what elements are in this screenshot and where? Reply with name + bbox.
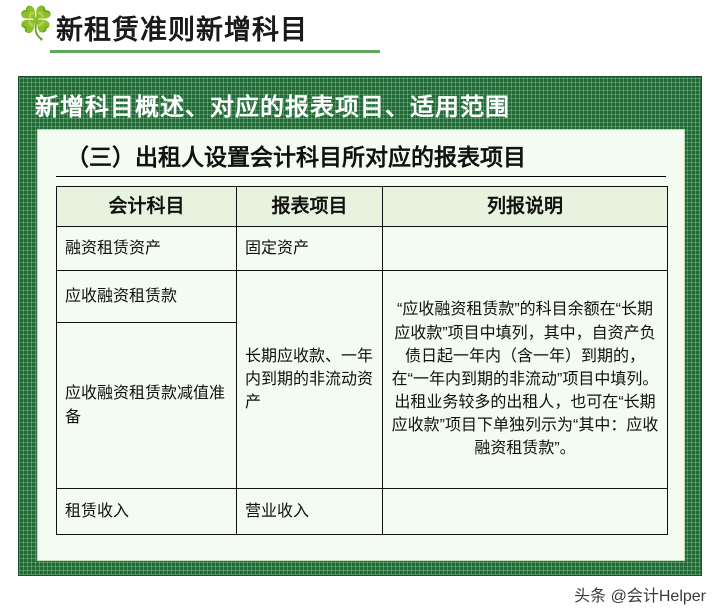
cell-subject: 应收融资租赁款减值准备: [57, 323, 237, 489]
cell-note-merged: “应收融资租赁款”的科目余额在“长期应收款”项目中填列，其中，自资产负债日起一年…: [383, 271, 668, 489]
column-header-report-item: 报表项目: [237, 187, 383, 227]
cell-subject: 应收融资租赁款: [57, 271, 237, 323]
table-row: 应收融资租赁款 长期应收款、一年内到期的非流动资产 “应收融资租赁款”的科目余额…: [57, 271, 668, 323]
page-footer: 头条 @会计Helper: [0, 576, 720, 611]
table-row: 租赁收入 营业收入: [57, 489, 668, 535]
card-heading-divider: [56, 176, 666, 177]
watermark-text: 头条 @会计Helper: [574, 582, 706, 606]
content-panel: 新增科目概述、对应的报表项目、适用范围 （三）出租人设置会计科目所对应的报表项目…: [18, 76, 702, 576]
clover-icon: 🍀: [16, 6, 50, 40]
table-body: 融资租赁资产 固定资产 应收融资租赁款 长期应收款、一年内到期的非流动资产 “应…: [57, 227, 668, 535]
card-heading: （三）出租人设置会计科目所对应的报表项目: [66, 138, 526, 172]
page-title: 新租赁准则新增科目: [56, 8, 308, 47]
column-header-note: 列报说明: [383, 187, 668, 227]
cell-report-item: 营业收入: [237, 489, 383, 535]
content-card: （三）出租人设置会计科目所对应的报表项目 会计科目 报表项目 列报说明 融资租赁…: [37, 129, 685, 561]
table-row: 融资租赁资产 固定资产: [57, 227, 668, 271]
cell-subject: 租赁收入: [57, 489, 237, 535]
cell-subject: 融资租赁资产: [57, 227, 237, 271]
table-header-row: 会计科目 报表项目 列报说明: [57, 187, 668, 227]
title-underline: [50, 50, 380, 53]
table-header: 会计科目 报表项目 列报说明: [57, 187, 668, 227]
column-header-subject: 会计科目: [57, 187, 237, 227]
cell-report-item: 固定资产: [237, 227, 383, 271]
panel-heading: 新增科目概述、对应的报表项目、适用范围: [35, 87, 510, 122]
page-header: 🍀 新租赁准则新增科目: [0, 0, 720, 62]
cell-report-item-merged: 长期应收款、一年内到期的非流动资产: [237, 271, 383, 489]
cell-note: [383, 489, 668, 535]
cell-note: [383, 227, 668, 271]
accounting-subjects-table: 会计科目 报表项目 列报说明 融资租赁资产 固定资产 应收融资租赁款 长期应收款…: [56, 186, 668, 535]
